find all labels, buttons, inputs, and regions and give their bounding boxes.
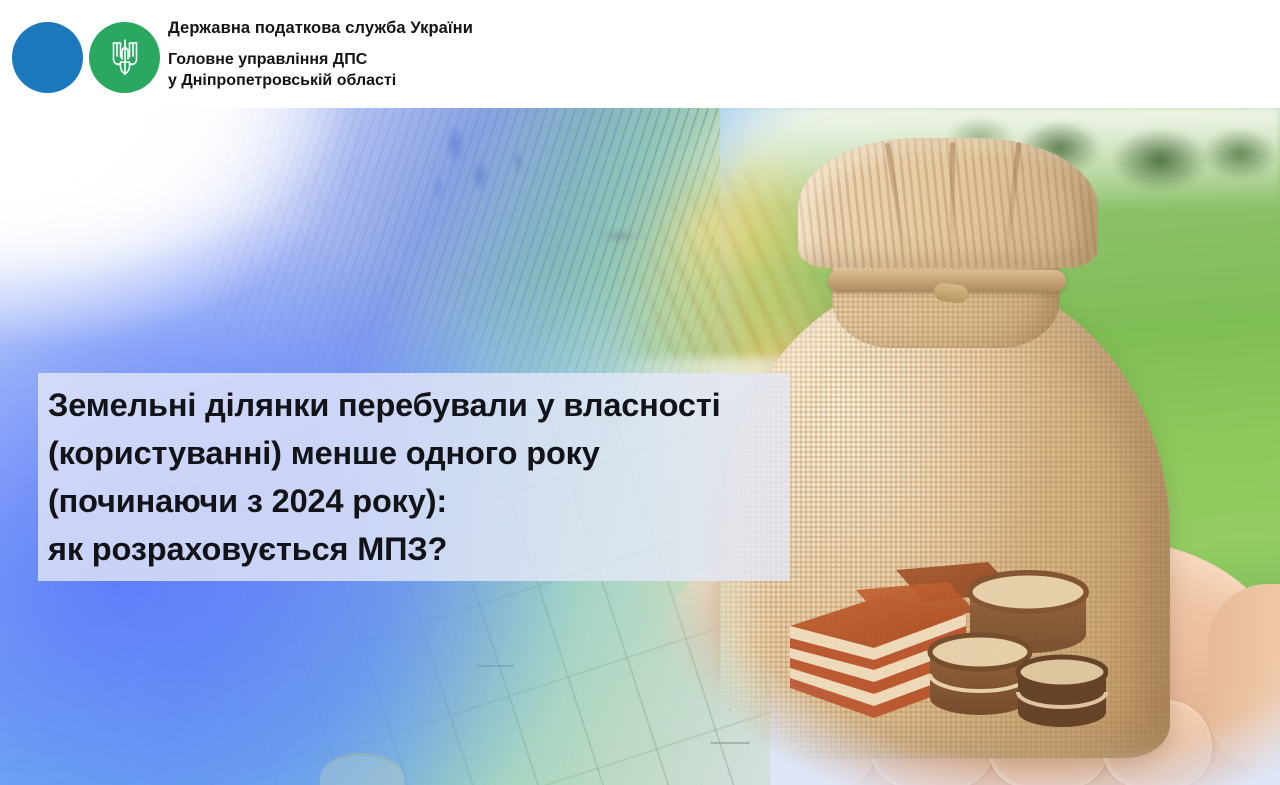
banner-page: Державна податкова служба України Головн…	[0, 0, 1280, 785]
gradient-highlight	[0, 108, 700, 408]
org-subtitle-line-2: у Дніпропетровській області	[168, 70, 1068, 91]
frill-fold	[1004, 142, 1022, 262]
banner-area: Земельні ділянки перебували у власності …	[0, 108, 1280, 785]
sack-top-frill	[798, 138, 1098, 268]
headline-text: Земельні ділянки перебували у власності …	[48, 381, 790, 573]
ukraine-trident-icon	[110, 37, 140, 78]
frill-fold	[885, 142, 909, 261]
agency-logo[interactable]	[12, 22, 162, 94]
banknote-stack-and-coins-icon	[778, 540, 1108, 745]
headline-line-2: (користуванні) менше одного року	[48, 429, 790, 477]
org-subtitle: Головне управління ДПС у Дніпропетровськ…	[168, 49, 1068, 91]
org-title: Державна податкова служба України	[168, 18, 1068, 38]
headline-line-4: як розраховується МПЗ?	[48, 525, 790, 573]
headline-panel: Земельні ділянки перебували у власності …	[38, 373, 790, 581]
headline-line-1: Земельні ділянки перебували у власності	[48, 381, 790, 429]
thumb	[1208, 584, 1280, 764]
site-header: Державна податкова служба України Головн…	[0, 0, 1280, 108]
header-text-block: Державна податкова служба України Головн…	[168, 18, 1068, 91]
headline-line-3: (починаючи з 2024 року):	[48, 477, 790, 525]
frill-fold	[950, 142, 955, 262]
logo-blue-circle-icon	[12, 22, 83, 93]
org-subtitle-line-1: Головне управління ДПС	[168, 49, 1068, 70]
